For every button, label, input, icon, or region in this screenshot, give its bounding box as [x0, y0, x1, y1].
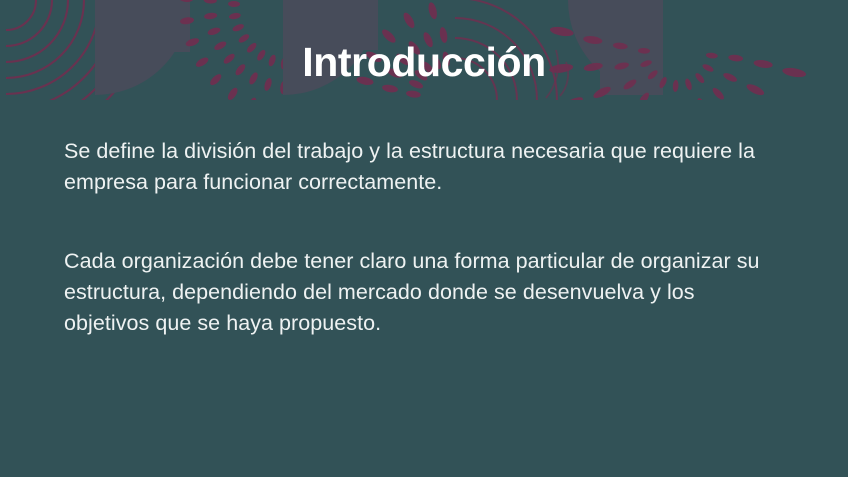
- page-title: Introducción: [0, 41, 848, 84]
- body-paragraph-2: Cada organización debe tener claro una f…: [64, 246, 776, 339]
- slide: Introducción Se define la división del t…: [0, 0, 848, 477]
- body-content: Se define la división del trabajo y la e…: [64, 136, 776, 339]
- body-paragraph-1: Se define la división del trabajo y la e…: [64, 136, 776, 198]
